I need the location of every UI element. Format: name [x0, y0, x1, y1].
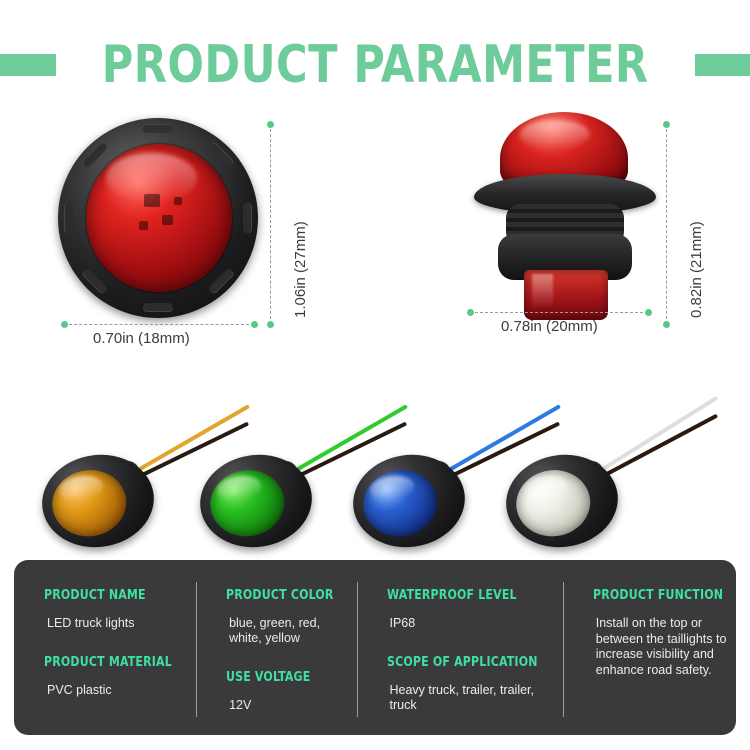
led-chip [139, 221, 148, 230]
bezel-notch [143, 124, 173, 133]
bezel-notch [143, 303, 173, 312]
bezel-housing [36, 448, 160, 555]
bezel-notch [81, 267, 109, 295]
led-chip [162, 215, 173, 225]
spec-field-product-material: PRODUCT MATERIAL PVC plastic [44, 655, 180, 698]
product-variant-amber [42, 417, 168, 547]
spec-field-product-color: PRODUCT COLOR blue, green, red, white, y… [226, 588, 340, 646]
bezel-housing [347, 448, 471, 555]
spec-field-use-voltage: USE VOLTAGE 12V [226, 670, 340, 713]
dimension-endpoint [267, 321, 274, 328]
product-variant-white [506, 417, 632, 547]
spec-value: Install on the top or between the tailli… [593, 616, 731, 678]
spec-field-product-name: PRODUCT NAME LED truck lights [44, 588, 180, 631]
spec-label: PRODUCT FUNCTION [593, 588, 723, 603]
dimension-label-height-front: 1.06in (27mm) [292, 221, 309, 318]
bezel-notch [207, 141, 235, 169]
dimension-endpoint [251, 321, 258, 328]
spec-value: blue, green, red, white, yellow [226, 616, 340, 646]
dimension-label-height-side: 0.82in (21mm) [688, 221, 705, 318]
bezel-notch [207, 267, 235, 295]
spec-label: SCOPE OF APPLICATION [387, 655, 538, 670]
spec-label: WATERPROOF LEVEL [387, 588, 538, 603]
spec-value: 12V [226, 698, 340, 713]
dimension-stage: 1.06in (27mm) 0.70in (18mm) 0.82in (21mm… [0, 100, 750, 355]
dimension-label-width-side: 0.78in (20mm) [501, 318, 598, 335]
spec-label: PRODUCT COLOR [226, 588, 334, 603]
dimension-endpoint [663, 121, 670, 128]
spec-column-3: WATERPROOF LEVEL IP68 SCOPE OF APPLICATI… [357, 560, 563, 735]
product-image-front-view [58, 118, 258, 318]
dimension-line-horizontal-side [470, 312, 648, 313]
bezel-notch [243, 203, 252, 233]
green-lens [206, 465, 288, 541]
dimension-line-vertical-front [270, 124, 271, 324]
color-variant-row [0, 355, 750, 550]
bezel-notch [81, 141, 109, 169]
spec-field-product-function: PRODUCT FUNCTION Install on the top or b… [593, 588, 731, 678]
spec-column-4: PRODUCT FUNCTION Install on the top or b… [563, 560, 747, 735]
power-wire-colored [589, 396, 718, 479]
led-chip [174, 197, 182, 205]
dimension-endpoint [663, 321, 670, 328]
product-image-side-view [472, 112, 662, 322]
white-lens [512, 465, 594, 541]
spec-value: Heavy truck, trailer, trailer, truck [387, 683, 547, 713]
spec-label: PRODUCT MATERIAL [44, 655, 172, 670]
spec-value: IP68 [387, 616, 547, 631]
dimension-endpoint [467, 309, 474, 316]
dimension-endpoint [61, 321, 68, 328]
specification-card: PRODUCT NAME LED truck lights PRODUCT MA… [14, 560, 736, 735]
spec-label: PRODUCT NAME [44, 588, 172, 603]
header-rule-right [695, 54, 750, 76]
spec-label: USE VOLTAGE [226, 670, 334, 685]
spec-value: LED truck lights [44, 616, 180, 631]
led-chip [144, 194, 160, 207]
spec-column-2: PRODUCT COLOR blue, green, red, white, y… [196, 560, 356, 735]
dimension-label-width-front: 0.70in (18mm) [93, 330, 190, 347]
amber-lens [48, 465, 130, 541]
dimension-line-horizontal-front [64, 324, 254, 325]
blue-lens [359, 465, 441, 541]
spec-value: PVC plastic [44, 683, 180, 698]
product-variant-green [200, 417, 326, 547]
page-header: PRODUCT PARAMETER [0, 30, 750, 100]
page-title: PRODUCT PARAMETER [102, 39, 649, 91]
dimension-line-vertical-side [666, 124, 667, 324]
spec-field-scope-of-application: SCOPE OF APPLICATION Heavy truck, traile… [387, 655, 547, 713]
dimension-endpoint [645, 309, 652, 316]
red-lens [86, 144, 232, 292]
bezel-notch [64, 203, 73, 233]
spec-column-1: PRODUCT NAME LED truck lights PRODUCT MA… [14, 560, 196, 735]
dimension-endpoint [267, 121, 274, 128]
spec-field-waterproof-level: WATERPROOF LEVEL IP68 [387, 588, 547, 631]
product-variant-blue [353, 417, 479, 547]
header-rule-left [0, 54, 56, 76]
bezel-housing [194, 448, 318, 555]
